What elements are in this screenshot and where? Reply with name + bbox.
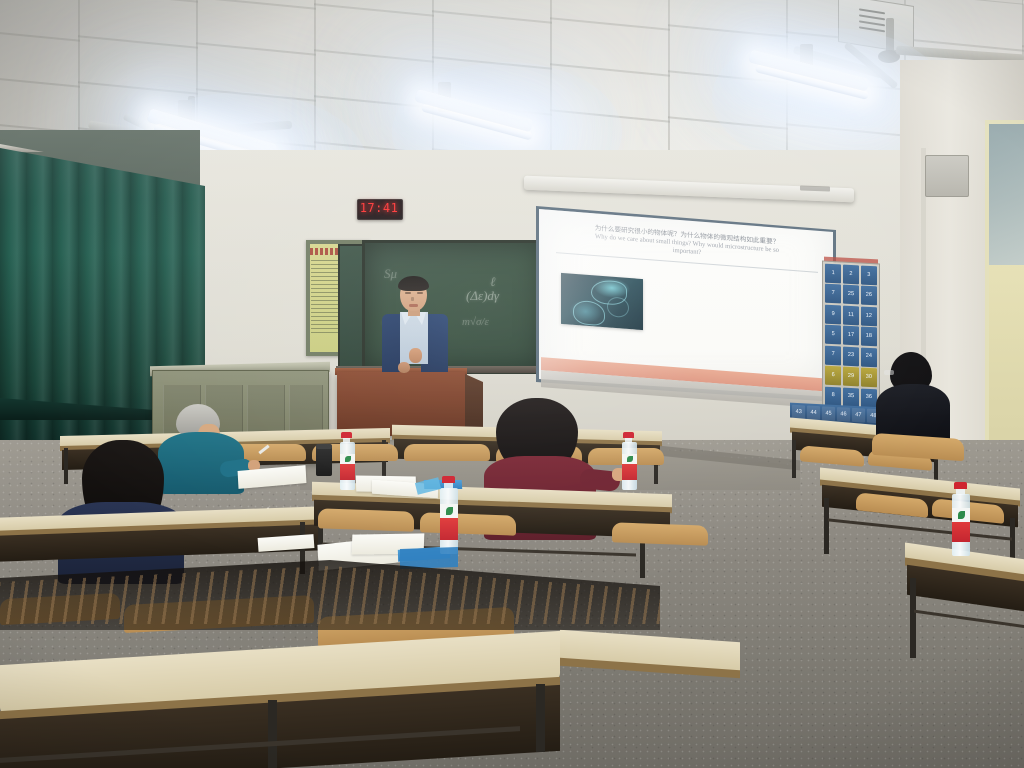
presenter-hair xyxy=(398,276,429,291)
number-board-row: 123 xyxy=(825,264,877,286)
number-board-cell: 1 xyxy=(825,264,841,284)
chalk-note: m√σ/ε xyxy=(462,316,489,328)
digital-clock-display: 17:41 xyxy=(359,201,399,216)
number-board-cell: 6 xyxy=(825,366,841,386)
presenter-hand-left xyxy=(409,348,422,363)
slide-micrograph-image xyxy=(561,273,643,330)
window-upper-right xyxy=(985,120,1024,273)
number-strip-cell: 46 xyxy=(837,407,850,422)
number-board-cell: 7 xyxy=(825,345,841,365)
presenter xyxy=(378,276,452,376)
number-board-cell: 18 xyxy=(861,327,877,347)
chalk-note: (Δε)dγ xyxy=(466,288,499,304)
number-board-cell: 35 xyxy=(843,387,859,407)
number-board-cell: 12 xyxy=(861,306,877,326)
number-board-cell: 30 xyxy=(861,368,877,388)
number-board-cell: 5 xyxy=(825,325,841,345)
attendee-right-glasses xyxy=(884,370,894,375)
number-board-cell: 11 xyxy=(843,305,859,325)
number-board-cell: 25 xyxy=(843,285,859,305)
number-strip-cell: 44 xyxy=(807,405,820,420)
number-board-cell: 23 xyxy=(843,346,859,366)
presenter-hand-right xyxy=(398,362,410,373)
number-board-cell: 3 xyxy=(861,266,877,286)
chalk-note: ℓ xyxy=(490,274,495,290)
number-board-row: 51718 xyxy=(825,325,877,347)
number-board-row: 62930 xyxy=(825,366,877,388)
number-board-cell: 7 xyxy=(825,284,841,304)
blue-placemat xyxy=(400,547,458,569)
number-board-cell: 9 xyxy=(825,305,841,325)
number-board-cell: 24 xyxy=(861,347,877,367)
classroom-photo: Sμ∂σ(Δε)dγm√σ/εℓ 17:41 为什么要研究很小的物体呢？为什么物… xyxy=(0,0,1024,768)
door-panel-right xyxy=(985,265,1024,465)
number-board-row: 72324 xyxy=(825,345,877,367)
number-strip-cell: 45 xyxy=(822,406,835,421)
number-board-cell: 17 xyxy=(843,326,859,346)
number-board-cell: 29 xyxy=(843,367,859,387)
podium-side xyxy=(465,374,483,432)
thermos-cup[interactable] xyxy=(316,446,332,476)
number-board-cell: 2 xyxy=(843,265,859,285)
number-board-cell: 8 xyxy=(825,386,841,406)
wall-electrical-box xyxy=(925,155,969,197)
number-board-row: 72526 xyxy=(825,284,877,306)
number-board-row: 91112 xyxy=(825,305,877,327)
number-board-cell: 36 xyxy=(861,388,877,408)
number-board-cell: 26 xyxy=(861,286,877,306)
thermos-lid xyxy=(316,444,332,449)
number-strip-cell: 47 xyxy=(852,408,865,423)
